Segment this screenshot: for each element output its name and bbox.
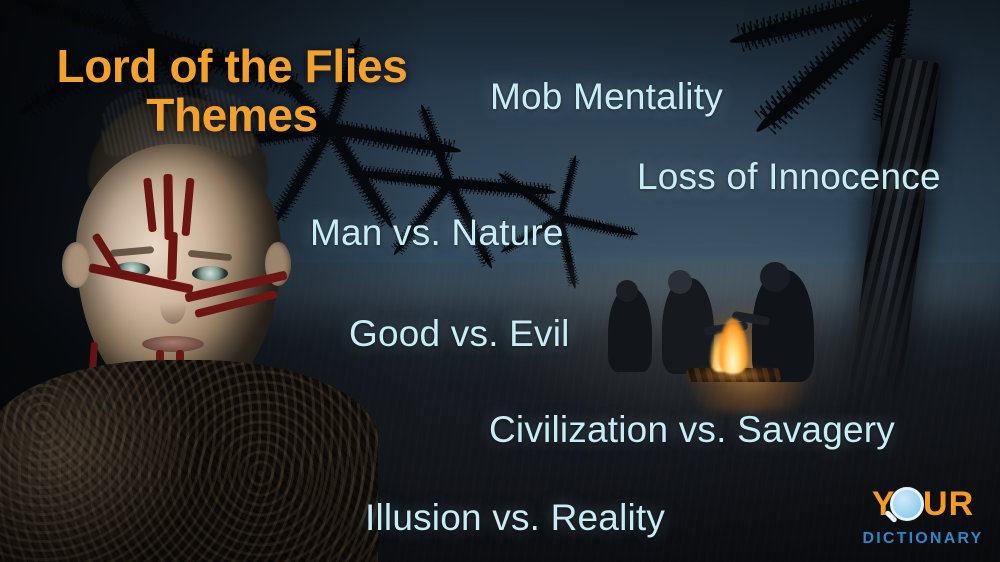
theme-loss-of-innocence: Loss of Innocence: [637, 156, 941, 198]
yourdictionary-logo[interactable]: YOUR DICTIONARY: [860, 484, 986, 550]
title-line-1: Lord of the Flies: [32, 42, 432, 91]
title-line-2: Themes: [32, 91, 432, 140]
theme-mob-mentality: Mob Mentality: [490, 76, 723, 118]
logo-your-ur: UR: [923, 485, 974, 523]
theme-illusion-vs-reality: Illusion vs. Reality: [365, 497, 665, 539]
logo-wordmark-dictionary: DICTIONARY: [860, 530, 986, 548]
page-title: Lord of the Flies Themes: [32, 42, 432, 140]
theme-civilization-vs-savagery: Civilization vs. Savagery: [489, 409, 895, 451]
magnifying-glass-icon: [890, 487, 924, 521]
theme-good-vs-evil: Good vs. Evil: [349, 313, 570, 355]
theme-man-vs-nature: Man vs. Nature: [310, 212, 564, 254]
poster-canvas: Lord of the Flies Themes Mob Mentality L…: [0, 0, 1000, 562]
